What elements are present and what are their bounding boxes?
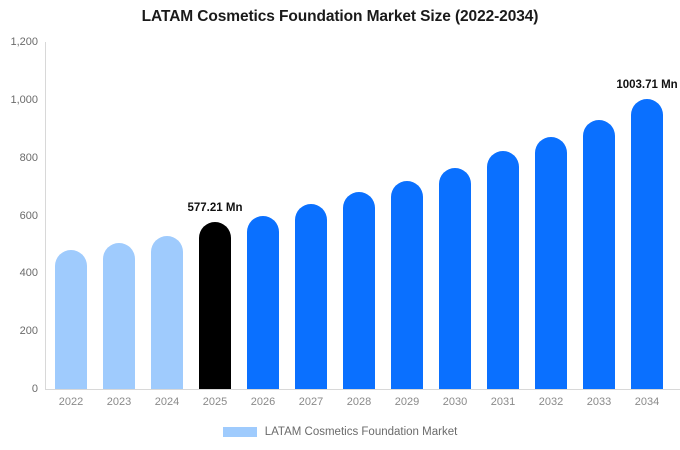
bar-2034[interactable]: [631, 99, 663, 389]
data-label-2034: 1003.71 Mn: [592, 79, 680, 91]
plot-area: [45, 42, 680, 389]
y-axis-tick-0: 0: [0, 383, 38, 395]
bar-2032[interactable]: [535, 137, 567, 389]
y-axis-tick-1000: 1,000: [0, 94, 38, 106]
bar-2027[interactable]: [295, 204, 327, 389]
legend: LATAM Cosmetics Foundation Market: [0, 426, 680, 438]
bar-2031[interactable]: [487, 151, 519, 389]
y-axis-tick-800: 800: [0, 152, 38, 164]
y-axis-tick-600: 600: [0, 210, 38, 222]
bar-2022[interactable]: [55, 250, 87, 389]
legend-swatch-icon: [223, 427, 257, 437]
x-axis-tick-2034: 2034: [617, 396, 677, 408]
y-axis-tick-200: 200: [0, 325, 38, 337]
legend-label: LATAM Cosmetics Foundation Market: [265, 426, 458, 438]
bar-2024[interactable]: [151, 236, 183, 389]
bar-2030[interactable]: [439, 168, 471, 389]
bar-2033[interactable]: [583, 120, 615, 389]
bar-chart: LATAM Cosmetics Foundation Market Size (…: [0, 0, 680, 450]
data-label-2025: 577.21 Mn: [160, 202, 270, 214]
bar-2028[interactable]: [343, 192, 375, 389]
x-axis-line: [45, 389, 680, 390]
chart-title: LATAM Cosmetics Foundation Market Size (…: [0, 8, 680, 26]
bar-2023[interactable]: [103, 243, 135, 389]
bar-2029[interactable]: [391, 181, 423, 389]
y-axis-tick-400: 400: [0, 267, 38, 279]
bar-2025[interactable]: [199, 222, 231, 389]
bar-2026[interactable]: [247, 216, 279, 390]
legend-item-latam-cosmetics-foundation-market[interactable]: LATAM Cosmetics Foundation Market: [223, 426, 458, 438]
y-axis-tick-1200: 1,200: [0, 36, 38, 48]
